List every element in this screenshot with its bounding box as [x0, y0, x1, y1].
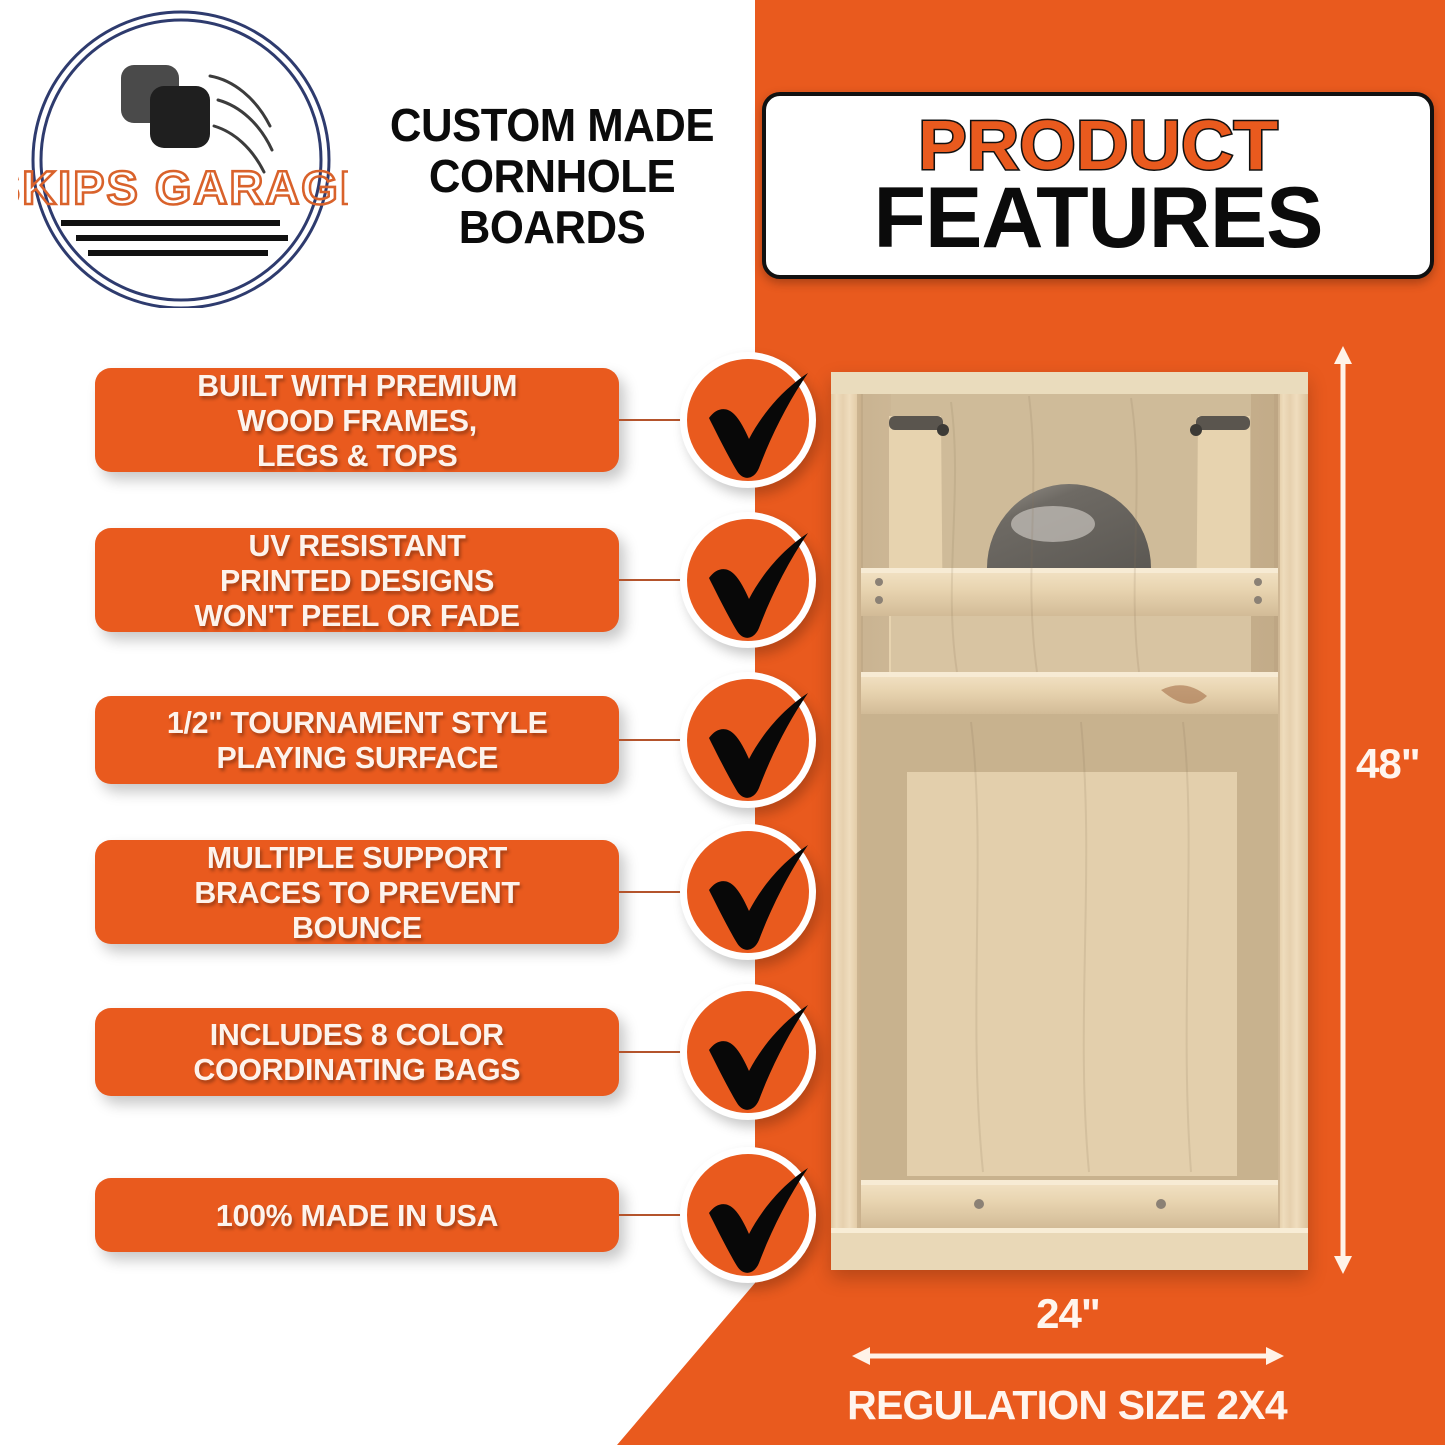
width-dimension-arrow	[852, 1345, 1284, 1367]
feature-row: UV RESISTANTPRINTED DESIGNSWON'T PEEL OR…	[0, 505, 830, 655]
feature-row: 1/2" TOURNAMENT STYLEPLAYING SURFACE	[0, 665, 830, 815]
feature-check-circle[interactable]	[680, 352, 816, 488]
skips-garage-logo-icon: SKIPS GARAGE	[18, 8, 348, 308]
badge-features-word: FEATURES	[873, 175, 1322, 261]
feature-row: BUILT WITH PREMIUMWOOD FRAMES,LEGS & TOP…	[0, 345, 830, 495]
feature-connector-line	[619, 1051, 685, 1053]
feature-pill-label: 100% MADE IN USA	[216, 1198, 498, 1233]
infographic-page: SKIPS GARAGE CUSTOM MADE CORNHOLE BOARDS…	[0, 0, 1445, 1445]
title-line-3: BOARDS	[362, 202, 742, 253]
width-dimension-label: 24"	[852, 1290, 1284, 1338]
feature-pill-6[interactable]: 100% MADE IN USA	[95, 1178, 619, 1252]
feature-check-circle[interactable]	[680, 512, 816, 648]
feature-check-circle[interactable]	[680, 984, 816, 1120]
feature-row: INCLUDES 8 COLORCOORDINATING BAGS	[0, 977, 830, 1127]
feature-pill-1[interactable]: BUILT WITH PREMIUMWOOD FRAMES,LEGS & TOP…	[95, 368, 619, 472]
feature-pill-4[interactable]: MULTIPLE SUPPORTBRACES TO PREVENTBOUNCE	[95, 840, 619, 944]
regulation-size-label: REGULATION SIZE 2X4	[832, 1382, 1302, 1429]
feature-row: MULTIPLE SUPPORTBRACES TO PREVENTBOUNCE	[0, 817, 830, 967]
feature-row: 100% MADE IN USA	[0, 1140, 830, 1290]
page-title: CUSTOM MADE CORNHOLE BOARDS	[352, 100, 752, 253]
title-line-1: CUSTOM MADE	[362, 100, 742, 151]
feature-pill-2[interactable]: UV RESISTANTPRINTED DESIGNSWON'T PEEL OR…	[95, 528, 619, 632]
feature-pill-5[interactable]: INCLUDES 8 COLORCOORDINATING BAGS	[95, 1008, 619, 1096]
feature-connector-line	[619, 739, 685, 741]
height-dimension-label: 48"	[1356, 740, 1420, 788]
feature-connector-line	[619, 1214, 685, 1216]
cornhole-board-underside-illustration	[831, 372, 1308, 1270]
badge-product-word: PRODUCT	[918, 111, 1278, 179]
feature-pill-3[interactable]: 1/2" TOURNAMENT STYLEPLAYING SURFACE	[95, 696, 619, 784]
logo-wordmark: SKIPS GARAGE	[18, 161, 348, 214]
feature-pill-label: UV RESISTANTPRINTED DESIGNSWON'T PEEL OR…	[194, 528, 519, 633]
feature-pill-label: BUILT WITH PREMIUMWOOD FRAMES,LEGS & TOP…	[197, 368, 517, 473]
height-dimension-arrow	[1330, 346, 1356, 1274]
feature-connector-line	[619, 891, 685, 893]
feature-check-circle[interactable]	[680, 1147, 816, 1283]
feature-pill-label: INCLUDES 8 COLORCOORDINATING BAGS	[194, 1017, 521, 1087]
title-line-2: CORNHOLE	[362, 151, 742, 202]
feature-check-circle[interactable]	[680, 672, 816, 808]
feature-connector-line	[619, 419, 685, 421]
product-features-badge: PRODUCT FEATURES	[762, 92, 1434, 279]
cornhole-board-photo	[831, 372, 1308, 1270]
feature-connector-line	[619, 579, 685, 581]
feature-pill-label: 1/2" TOURNAMENT STYLEPLAYING SURFACE	[167, 705, 548, 775]
feature-pill-label: MULTIPLE SUPPORTBRACES TO PREVENTBOUNCE	[194, 840, 519, 945]
brand-logo[interactable]: SKIPS GARAGE	[18, 8, 348, 308]
feature-check-circle[interactable]	[680, 824, 816, 960]
